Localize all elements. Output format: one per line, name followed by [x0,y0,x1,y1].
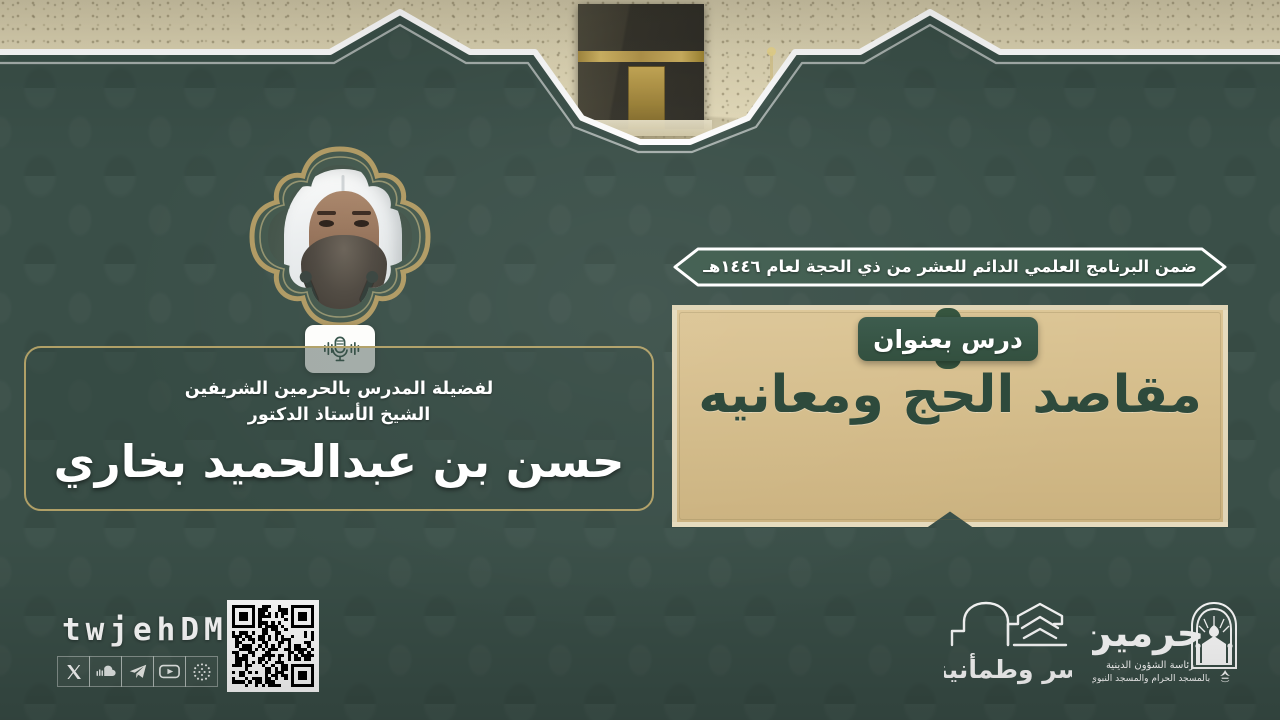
yusr-logo-text: يسر وطمأنينة [944,653,1072,685]
social-link-soundcloud[interactable] [89,656,122,687]
lamp-post-icon [770,52,773,120]
program-ribbon: ضمن البرنامج العلمي الدائم للعشر من ذي ا… [672,246,1228,288]
kaaba-cube [578,4,704,129]
eye-right [354,220,369,227]
threads-dots-icon [192,662,212,682]
eye-left [319,220,334,227]
haramain-subtitle-line-1: رئاسة الشؤون الدينية [1106,660,1194,671]
qr-code[interactable] [227,600,319,692]
eyebrow-left [317,211,336,215]
kaaba-base [570,120,712,136]
poster-canvas: لفضيلة المدرس بالحرمين الشريفين الشيخ ال… [0,0,1280,720]
lamp-post-icon [520,58,523,120]
social-handle: twjehDM [62,612,228,648]
speaker-name: حسن بن عبدالحميد بخاري [54,435,625,488]
yusr-wa-tumaninah-logo: يسر وطمأنينة [944,598,1072,694]
youtube-icon [159,664,180,679]
haramain-logo-text: حرمين [1092,611,1204,655]
speaker-info-box: لفضيلة المدرس بالحرمين الشريفين الشيخ ال… [24,346,654,511]
haramain-logo: حرمين رئاسة الشؤون الدينية بالمسجد الحرا… [1092,596,1244,696]
speaker-role-line-1: لفضيلة المدرس بالحرمين الشريفين [185,377,493,402]
speaker-portrait [249,146,431,328]
lesson-tab: درس بعنوان [858,317,1038,361]
social-icon-row [57,656,217,687]
social-link-dots[interactable] [185,656,218,687]
x-twitter-icon [66,664,82,680]
social-link-telegram[interactable] [121,656,154,687]
lesson-title: مقاصد الحج ومعانيه [672,365,1228,425]
soundcloud-icon [96,665,116,678]
social-link-x[interactable] [57,656,90,687]
telegram-icon [129,664,147,679]
program-ribbon-text: ضمن البرنامج العلمي الدائم للعشر من ذي ا… [672,246,1228,288]
qr-code-grid [232,605,314,687]
lesson-tab-label: درس بعنوان [873,325,1023,354]
hero-banner [0,0,1280,152]
kaaba-photo [0,0,1280,152]
speaker-role-line-2: الشيخ الأستاذ الدكتور [248,403,430,428]
maqam-ibrahim-enclosure [780,86,852,128]
eyebrow-right [352,211,371,215]
social-link-youtube[interactable] [153,656,186,687]
haramain-subtitle-line-2: بالمسجد الحرام والمسجد النبوي [1092,674,1210,684]
kiswah-band [578,51,704,62]
